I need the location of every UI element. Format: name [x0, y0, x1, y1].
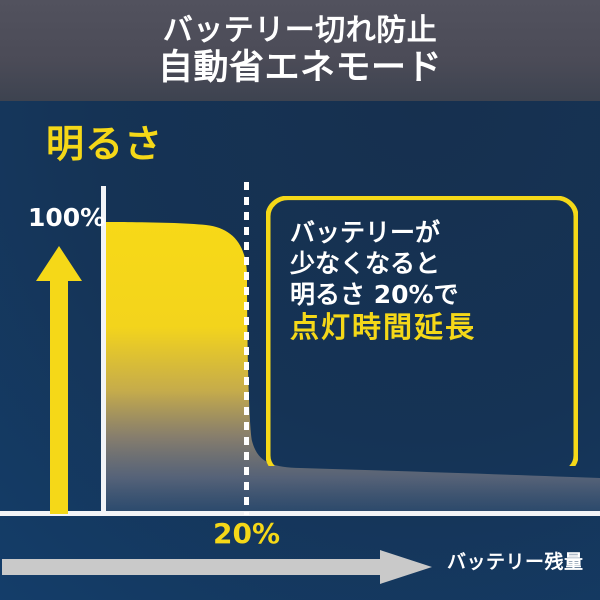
- battery-axis-arrow-icon: [2, 550, 432, 584]
- threshold-dashed-line: [244, 182, 249, 515]
- callout-line-1: バッテリーが: [290, 219, 570, 246]
- y-axis-label: 明るさ: [46, 125, 163, 163]
- header-banner: バッテリー切れ防止 自動省エネモード: [0, 0, 600, 101]
- callout-line-2: 少なくなると: [290, 250, 570, 277]
- x-axis-tick-20: 20%: [213, 520, 280, 548]
- y-axis-tick-100: 100%: [28, 205, 105, 230]
- callout-text-block: バッテリーが 少なくなると 明るさ 20%で 点灯時間延長: [290, 219, 570, 343]
- header-title-line2: 自動省エネモード: [158, 51, 442, 86]
- brightness-up-arrow-icon: [36, 246, 82, 514]
- header-title-line1: バッテリー切れ防止: [163, 16, 438, 46]
- x-axis-label: バッテリー残量: [447, 553, 584, 572]
- infographic-canvas: バッテリー切れ防止 自動省エネモード 明るさ: [0, 0, 600, 600]
- y-axis-line: [101, 186, 106, 515]
- x-axis-line: [0, 511, 600, 516]
- callout-line-3: 明るさ 20%で: [290, 281, 570, 308]
- callout-line-4-highlight: 点灯時間延長: [290, 312, 570, 343]
- chart-panel: 明るさ 100% 20% バッテリー残量 バッテリーが 少なくなると 明るさ 2…: [0, 101, 600, 600]
